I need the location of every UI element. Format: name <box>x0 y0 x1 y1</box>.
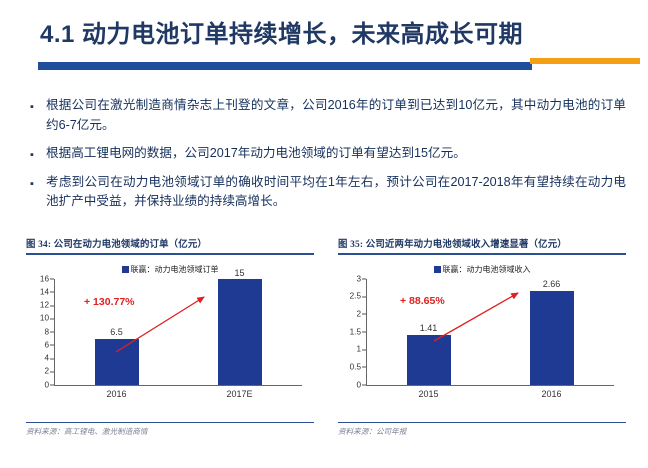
x-tick-label: 2016 <box>490 389 613 399</box>
bullet-text: 根据高工锂电网的数据，公司2017年动力电池领域的订单有望达到15亿元。 <box>46 144 626 164</box>
slide-header: 4.1 动力电池订单持续增长，未来高成长可期 <box>0 0 648 72</box>
y-tick-label: 16 <box>40 274 49 283</box>
slide: 4.1 动力电池订单持续增长，未来高成长可期 ▪ 根据公司在激光制造商情杂志上刊… <box>0 0 648 468</box>
caption-divider <box>26 253 314 255</box>
y-axis: 3 2.5 2 1.5 1 0.5 0 <box>338 279 366 385</box>
charts-row: 图 34: 公司在动力电池领域的订单（亿元） 联赢：动力电池领域订单 16 14… <box>26 236 626 446</box>
caption-divider <box>338 253 626 255</box>
chart-source: 资料来源：公司年报 <box>338 426 406 437</box>
page-title: 4.1 动力电池订单持续增长，未来高成长可期 <box>40 14 523 49</box>
figure-number: 图 35: <box>338 240 363 250</box>
bar-group: 6.5 <box>55 279 178 385</box>
y-axis: 16 14 12 10 8 6 4 2 0 <box>26 279 54 385</box>
chart-plot-area: 3 2.5 2 1.5 1 0.5 0 1.41 <box>338 279 626 401</box>
chart-caption: 图 34: 公司在动力电池领域的订单（亿元） <box>26 236 314 253</box>
bullet-marker-icon: ▪ <box>30 144 46 161</box>
list-item: ▪ 根据公司在激光制造商情杂志上刊登的文章，公司2016年的订单到已达到10亿元… <box>30 96 626 135</box>
legend-swatch-icon <box>434 266 441 273</box>
y-tick-label: 12 <box>40 301 49 310</box>
bar-group: 15 <box>178 279 301 385</box>
bar-value-label: 15 <box>234 268 244 278</box>
source-divider <box>26 422 314 423</box>
source-divider <box>338 422 626 423</box>
legend-label: 联赢：动力电池领域订单 <box>131 265 219 274</box>
y-tick-label: 6 <box>44 340 49 349</box>
bullet-text: 根据公司在激光制造商情杂志上刊登的文章，公司2016年的订单到已达到10亿元，其… <box>46 96 626 135</box>
y-tick-label: 8 <box>44 327 49 336</box>
chart-source: 资料来源：高工锂电、激光制造商情 <box>26 426 148 437</box>
bar-value-label: 1.41 <box>420 323 438 333</box>
growth-annotation: + 130.77% <box>84 296 135 308</box>
bullet-marker-icon: ▪ <box>30 96 46 113</box>
chart-panel-fig34: 图 34: 公司在动力电池领域的订单（亿元） 联赢：动力电池领域订单 16 14… <box>26 236 314 446</box>
y-tick-label: 1 <box>356 345 361 354</box>
y-tick-label: 0 <box>356 380 361 389</box>
growth-annotation: + 88.65% <box>400 295 445 307</box>
y-tick-label: 1.5 <box>350 327 361 336</box>
y-tick-label: 2 <box>44 367 49 376</box>
bar[interactable] <box>95 339 139 385</box>
legend-swatch-icon <box>122 266 129 273</box>
x-tick-label: 2015 <box>367 389 490 399</box>
y-tick-label: 10 <box>40 314 49 323</box>
y-tick-label: 4 <box>44 354 49 363</box>
chart-legend: 联赢：动力电池领域收入 <box>338 264 626 275</box>
chart-legend: 联赢：动力电池领域订单 <box>26 264 314 275</box>
y-tick-label: 3 <box>356 274 361 283</box>
bar[interactable] <box>530 291 574 385</box>
x-tick-label: 2016 <box>55 389 178 399</box>
figure-caption-text: 公司在动力电池领域的订单（亿元） <box>54 240 207 250</box>
x-axis-line <box>54 385 302 386</box>
x-axis-line <box>366 385 614 386</box>
y-tick-label: 0.5 <box>350 362 361 371</box>
x-tick-label: 2017E <box>178 389 301 399</box>
y-tick-label: 14 <box>40 287 49 296</box>
bullet-text: 考虑到公司在动力电池领域订单的确收时间平均在1年左右，预计公司在2017-201… <box>46 173 626 212</box>
bar-value-label: 2.66 <box>543 279 561 289</box>
bar-group: 2.66 <box>490 279 613 385</box>
y-tick-label: 2.5 <box>350 292 361 301</box>
title-rule-orange <box>530 58 640 64</box>
title-rule-blue <box>38 62 532 70</box>
y-tick-label: 2 <box>356 309 361 318</box>
bar-value-label: 6.5 <box>110 327 123 337</box>
chart-caption: 图 35: 公司近两年动力电池领域收入增速显著（亿元） <box>338 236 626 253</box>
x-axis-labels: 2016 2017E <box>55 389 302 405</box>
bullet-list: ▪ 根据公司在激光制造商情杂志上刊登的文章，公司2016年的订单到已达到10亿元… <box>30 96 626 221</box>
list-item: ▪ 考虑到公司在动力电池领域订单的确收时间平均在1年左右，预计公司在2017-2… <box>30 173 626 212</box>
bar[interactable] <box>407 335 451 385</box>
figure-number: 图 34: <box>26 240 51 250</box>
y-tick-label: 0 <box>44 380 49 389</box>
legend-label: 联赢：动力电池领域收入 <box>443 265 531 274</box>
bar[interactable] <box>218 279 262 384</box>
list-item: ▪ 根据高工锂电网的数据，公司2017年动力电池领域的订单有望达到15亿元。 <box>30 144 626 164</box>
x-axis-labels: 2015 2016 <box>367 389 614 405</box>
figure-caption-text: 公司近两年动力电池领域收入增速显著（亿元） <box>366 240 567 250</box>
bullet-marker-icon: ▪ <box>30 173 46 190</box>
chart-panel-fig35: 图 35: 公司近两年动力电池领域收入增速显著（亿元） 联赢：动力电池领域收入 … <box>338 236 626 446</box>
chart-plot-area: 16 14 12 10 8 6 4 2 0 6.5 <box>26 279 314 401</box>
bar-series: 6.5 15 <box>55 279 302 385</box>
